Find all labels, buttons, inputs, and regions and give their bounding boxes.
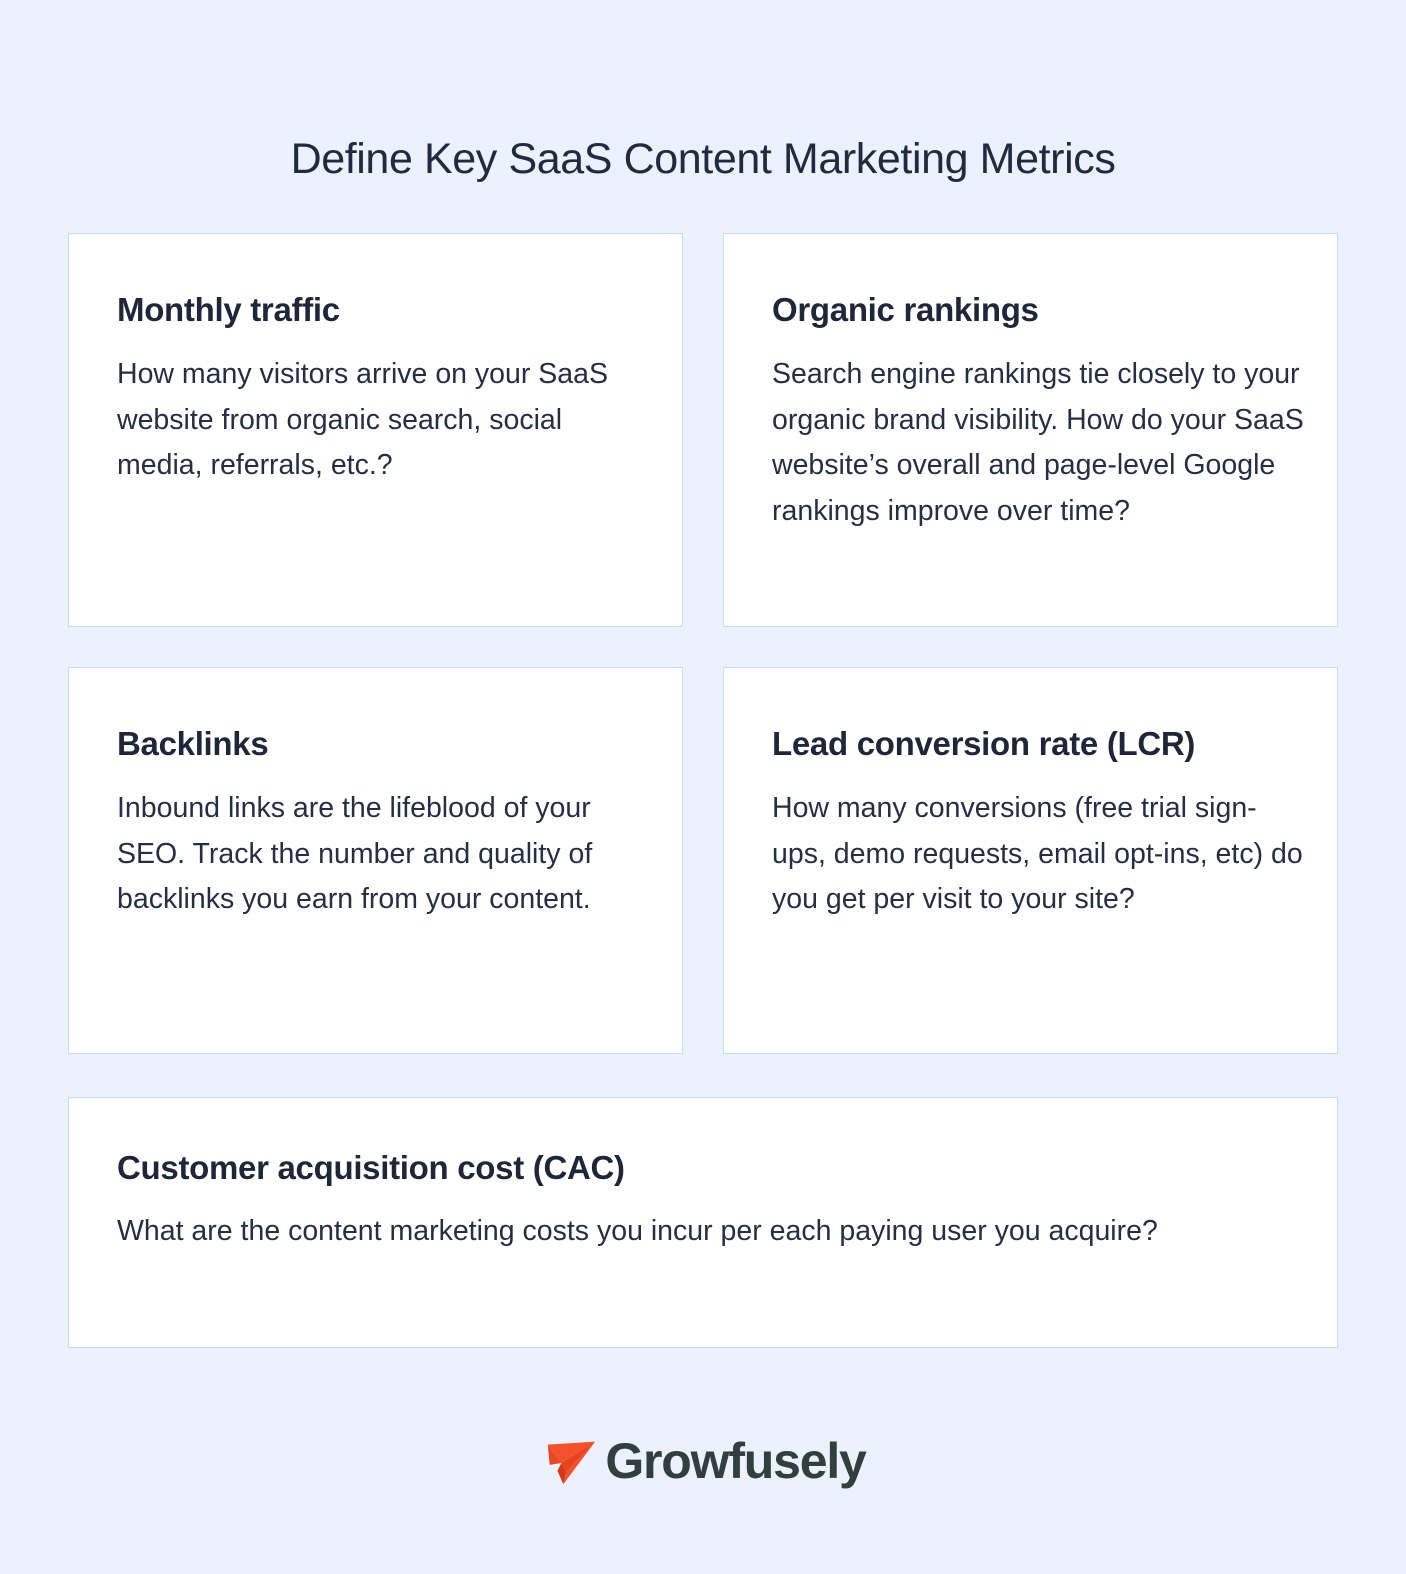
metric-card-organic-rankings: Organic rankings Search engine rankings … bbox=[723, 233, 1338, 627]
card-content: Monthly traffic How many visitors arrive… bbox=[117, 290, 652, 489]
metric-card-customer-acquisition-cost: Customer acquisition cost (CAC) What are… bbox=[68, 1097, 1338, 1348]
card-content: Lead conversion rate (LCR) How many conv… bbox=[772, 724, 1303, 923]
card-content: Backlinks Inbound links are the lifebloo… bbox=[117, 724, 660, 923]
card-body: How many conversions (free trial sign-up… bbox=[772, 786, 1303, 923]
card-content: Customer acquisition cost (CAC) What are… bbox=[117, 1148, 1289, 1254]
infographic-page: Define Key SaaS Content Marketing Metric… bbox=[0, 0, 1406, 1574]
card-heading: Monthly traffic bbox=[117, 290, 652, 330]
card-body: What are the content marketing costs you… bbox=[117, 1208, 1289, 1254]
card-body: Search engine rankings tie closely to yo… bbox=[772, 352, 1309, 534]
card-content: Organic rankings Search engine rankings … bbox=[772, 290, 1309, 534]
card-heading: Backlinks bbox=[117, 724, 660, 764]
card-body: How many visitors arrive on your SaaS we… bbox=[117, 352, 652, 489]
metric-card-monthly-traffic: Monthly traffic How many visitors arrive… bbox=[68, 233, 683, 627]
card-heading: Lead conversion rate (LCR) bbox=[772, 724, 1303, 764]
card-heading: Organic rankings bbox=[772, 290, 1309, 330]
page-title: Define Key SaaS Content Marketing Metric… bbox=[0, 130, 1406, 188]
metric-card-lead-conversion-rate: Lead conversion rate (LCR) How many conv… bbox=[723, 667, 1338, 1054]
metric-card-backlinks: Backlinks Inbound links are the lifebloo… bbox=[68, 667, 683, 1054]
brand-name: Growfusely bbox=[605, 1433, 865, 1489]
card-heading: Customer acquisition cost (CAC) bbox=[117, 1148, 1289, 1188]
paper-plane-icon bbox=[540, 1431, 602, 1493]
card-body: Inbound links are the lifeblood of your … bbox=[117, 786, 660, 923]
brand-logo: Growfusely bbox=[0, 1418, 1406, 1504]
